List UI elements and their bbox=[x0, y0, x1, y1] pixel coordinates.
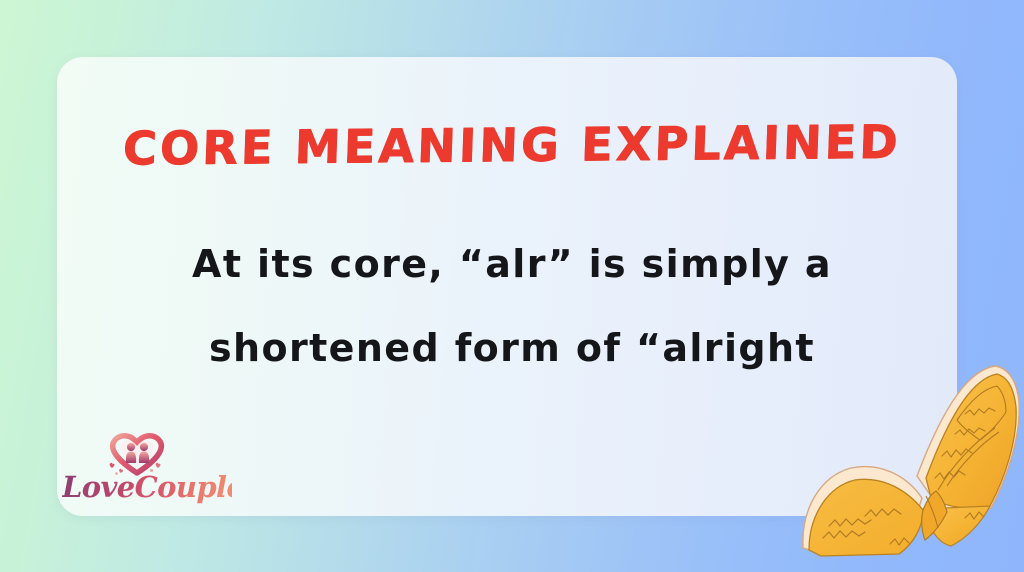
body-text-line-1: At its core, “alr” is simply a bbox=[0, 222, 1024, 306]
page-title: CORE MEANING EXPLAINED bbox=[0, 114, 1024, 177]
brand-name: LoveCouplez bbox=[62, 470, 232, 504]
slide-canvas: CORE MEANING EXPLAINED At its core, “alr… bbox=[0, 0, 1024, 572]
brand-logo[interactable]: LoveCouplez bbox=[62, 432, 232, 508]
open-book-icon bbox=[795, 358, 1024, 558]
